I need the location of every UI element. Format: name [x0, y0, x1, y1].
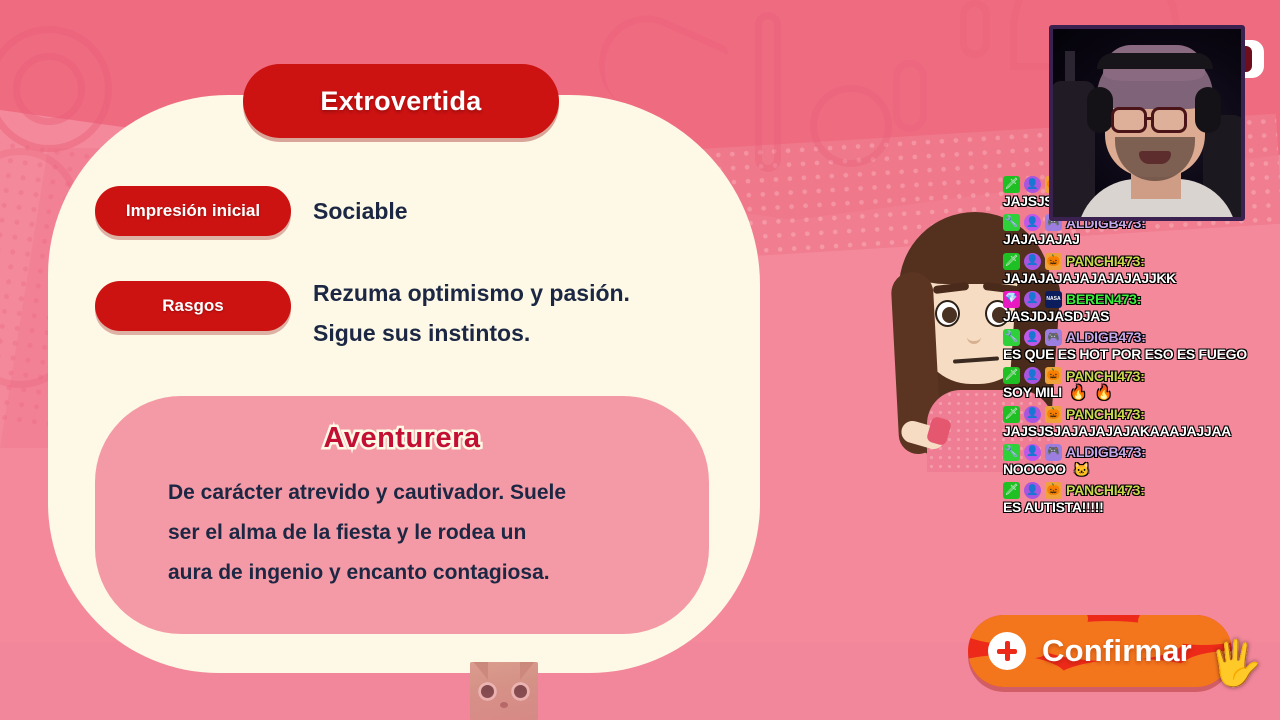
wrench-badge-icon	[1003, 214, 1020, 231]
traits-label: Rasgos	[162, 296, 223, 316]
row-traits: Rasgos Rezuma optimismo y pasión. Sigue …	[95, 281, 630, 353]
avatar-badge-icon	[1024, 176, 1041, 193]
star-icon	[1157, 215, 1169, 221]
webcam-glasses-bridge	[1147, 117, 1153, 120]
pumpkin-badge-icon	[1045, 482, 1062, 499]
sword-badge-icon	[1003, 176, 1020, 193]
stream-chat-overlay[interactable]: JAJSJSJAALDIGB473:JAJAJAJAJPANCHI473:JAJ…	[1003, 176, 1280, 520]
background-ring-inner-icon	[13, 53, 85, 125]
chat-message-header: PANCHI473:	[1003, 367, 1280, 384]
avatar2-badge-icon	[1024, 329, 1041, 346]
personality-title: Extrovertida	[320, 86, 481, 117]
avatar-badge-icon	[1024, 367, 1041, 384]
trait-detail-line-1: De carácter atrevido y cautivador. Suele	[168, 473, 658, 513]
trait-detail-title: Aventurera	[95, 422, 709, 455]
background-ring-right-icon	[810, 85, 892, 167]
webcam-glasses-right	[1151, 107, 1187, 133]
gamepad-badge-icon	[1045, 444, 1062, 461]
avatar2-badge-icon	[1024, 444, 1041, 461]
nasa-badge-icon	[1045, 291, 1062, 308]
sword-badge-icon	[1003, 253, 1020, 270]
chat-message-header: PANCHI473:	[1003, 482, 1280, 499]
sword-badge-icon	[1003, 406, 1020, 423]
chat-message: ALDIGB473:NOOOOO	[1003, 444, 1280, 476]
confirm-button-content: Confirmar	[968, 615, 1232, 687]
chat-username[interactable]: PANCHI473:	[1066, 254, 1145, 268]
webcam-headphone-band	[1097, 53, 1213, 69]
chat-message-header: ALDIGB473:	[1003, 329, 1280, 346]
avatar2-badge-icon	[1024, 214, 1041, 231]
chat-message-text: ES AUTISTA!!!!!	[1003, 500, 1280, 514]
streamer-webcam-feed	[1049, 25, 1245, 221]
pumpkin-badge-icon	[1045, 253, 1062, 270]
trait-detail-line-3: aura de ingenio y encanto contagiosa.	[168, 553, 658, 593]
webcam-streamer-mouth	[1139, 151, 1171, 164]
chat-message-text: JAJAJAJAJAJAJAJAJJKK	[1003, 271, 1280, 285]
pumpkin-badge-icon	[1045, 406, 1062, 423]
chat-username[interactable]: PANCHI473:	[1066, 483, 1145, 497]
background-bar-1	[755, 12, 781, 172]
trait-detail-body: De carácter atrevido y cautivador. Suele…	[168, 473, 658, 593]
chat-message: PANCHI473:SOY MILI	[1003, 367, 1280, 399]
diamond-badge-icon	[1003, 291, 1020, 308]
chat-message-header: PANCHI473:	[1003, 406, 1280, 423]
webcam-headphone-right	[1195, 87, 1221, 133]
chat-message-text: SOY MILI	[1003, 385, 1280, 399]
fire-emote-icon	[1095, 384, 1112, 400]
traits-label-pill: Rasgos	[95, 281, 291, 331]
chat-message: PANCHI473:JAJSJSJAJAJAJAJAKAAAJAJJAA	[1003, 406, 1280, 438]
cat-overlay-tint	[470, 662, 538, 720]
chat-message: ALDIGB473:ES QUE ES HOT POR ESO ES FUEGO	[1003, 329, 1280, 361]
pumpkin-badge-icon	[1045, 367, 1062, 384]
background-bar-2	[893, 60, 927, 132]
fire-emote-icon	[1070, 384, 1087, 400]
chat-message-text: NOOOOO	[1003, 462, 1280, 476]
trait-detail-line-2: ser el alma de la fiesta y le rodea un	[168, 513, 658, 553]
cat-emote-icon	[1074, 461, 1090, 477]
webcam-headphone-left	[1087, 87, 1113, 133]
wrench-badge-icon	[1003, 329, 1020, 346]
row-first-impression: Impresión inicial Sociable	[95, 186, 408, 236]
personality-title-pill: Extrovertida	[243, 64, 559, 138]
sword-badge-icon	[1003, 367, 1020, 384]
chat-message-header: BEREN473:	[1003, 291, 1280, 308]
chat-message-header: ALDIGB473:	[1003, 444, 1280, 461]
traits-value-line-1: Rezuma optimismo y pasión.	[313, 273, 630, 313]
chat-username[interactable]: PANCHI473:	[1066, 407, 1145, 421]
chat-message: PANCHI473:JAJAJAJAJAJAJAJAJJKK	[1003, 253, 1280, 285]
trait-detail-panel: Aventurera De carácter atrevido y cautiv…	[95, 396, 709, 634]
chat-username[interactable]: ALDIGB473:	[1066, 330, 1146, 344]
background-bar-3	[960, 0, 990, 58]
chat-username[interactable]: ALDIGB473:	[1066, 445, 1146, 459]
plus-circle-icon	[988, 632, 1026, 670]
cat-emote-image	[470, 662, 538, 720]
chat-message-text: ES QUE ES HOT POR ESO ES FUEGO	[1003, 347, 1280, 361]
chat-message-header: PANCHI473:	[1003, 253, 1280, 270]
mii-eye-left	[935, 300, 960, 327]
first-impression-label-pill: Impresión inicial	[95, 186, 291, 236]
obscured-ui-element	[1242, 40, 1264, 78]
first-impression-value: Sociable	[313, 186, 408, 236]
avatar-badge-icon	[1024, 482, 1041, 499]
sword-badge-icon	[1003, 482, 1020, 499]
avatar-badge-icon	[1024, 406, 1041, 423]
traits-value: Rezuma optimismo y pasión. Sigue sus ins…	[313, 273, 630, 353]
traits-value-line-2: Sigue sus instintos.	[313, 313, 630, 353]
gamepad-badge-icon	[1045, 329, 1062, 346]
confirm-button-label: Confirmar	[1042, 633, 1192, 669]
confirm-button[interactable]: Confirmar	[968, 615, 1232, 687]
chat-message: PANCHI473:ES AUTISTA!!!!!	[1003, 482, 1280, 514]
hand-pointer-cursor	[1208, 642, 1256, 700]
chat-message-text: JAJAJAJAJ	[1003, 232, 1280, 246]
avatar-badge-icon	[1024, 253, 1041, 270]
webcam-glasses-left	[1111, 107, 1147, 133]
first-impression-label: Impresión inicial	[126, 201, 260, 221]
chat-message-text: JAJSJSJAJAJAJAJAKAAAJAJJAA	[1003, 424, 1280, 438]
wrench-badge-icon	[1003, 444, 1020, 461]
chat-username[interactable]: BEREN473:	[1066, 292, 1141, 306]
chat-username[interactable]: PANCHI473:	[1066, 369, 1145, 383]
chat-message: BEREN473:JASJDJASDJAS	[1003, 291, 1280, 323]
chat-message-text: JASJDJASDJAS	[1003, 309, 1280, 323]
avatar-badge-icon	[1024, 291, 1041, 308]
